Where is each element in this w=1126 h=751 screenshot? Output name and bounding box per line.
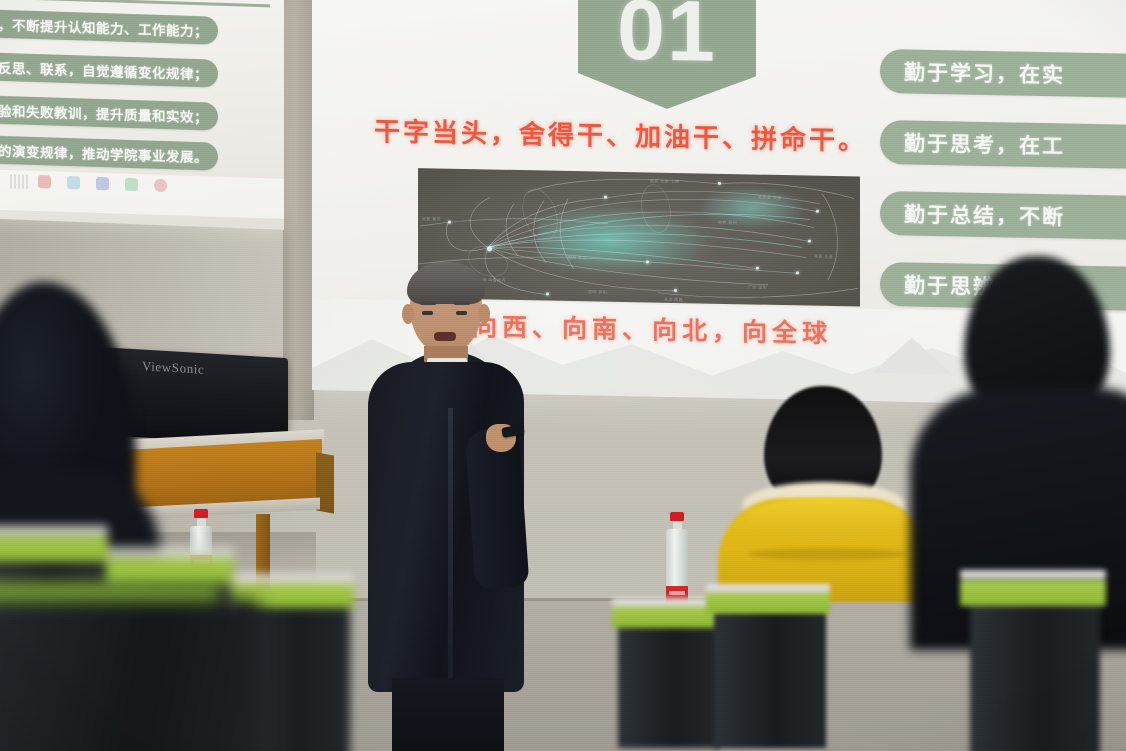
slide-divider-rule: [30, 0, 270, 7]
seat-desk-edge: [706, 584, 830, 593]
left-slide-bullet-3: 成功经验和失败教训，提升质量和实效；: [0, 94, 218, 131]
left-slide-bullet-4: 人事物的演变规律，推动学院事业发展。: [0, 134, 218, 171]
left-slide-footer-bars: [10, 174, 30, 189]
speaker-hair: [407, 262, 485, 304]
left-slide-bullet-2: 不断反思、联系，自觉遵循变化规律；: [0, 51, 218, 88]
speaker-brow-left: [420, 302, 436, 305]
bottle-cap: [194, 509, 208, 518]
seat-desk: [706, 592, 830, 614]
seat-foreground-back: [0, 600, 260, 751]
speaker-ear-right: [478, 304, 490, 324]
speaker-eye-left: [422, 311, 433, 315]
left-slide-bullet-4-text: 人事物的演变规律，推动学院事业发展。: [0, 138, 208, 166]
map-label-2: 郑州 武汉: [568, 255, 587, 261]
right-slide-pill-2-text: 勤于思考，在工: [904, 127, 1065, 160]
speaker-person: [362, 258, 532, 751]
speaker-eye-right: [456, 311, 467, 315]
speaker-trousers: [392, 678, 504, 751]
map-label-7: 哈尔滨 沈阳: [758, 195, 782, 201]
map-label-9: 青岛 大连: [814, 254, 833, 260]
right-slide-pill-1: 勤于学习，在实: [880, 49, 1126, 99]
audience-yellow-jacket: [722, 386, 930, 596]
pink-app-icon: [154, 179, 167, 192]
bottle-neck: [673, 521, 682, 529]
projection-screen-left: 学习，不断提升认知能力、工作能力； 不断反思、联系，自觉遵循变化规律； 成功经验…: [0, 0, 284, 230]
audience-yellow-jacket-collar: [746, 498, 906, 540]
seat-back: [618, 622, 720, 748]
right-slide-pill-3: 勤于总结，不断: [880, 191, 1126, 241]
blue-app-icon: [96, 177, 109, 190]
seat-desk: [960, 580, 1106, 606]
section-number-badge: 01: [578, 0, 756, 111]
seat-desk-edge: [960, 570, 1106, 579]
lecture-hall-photo: 学习，不断提升认知能力、工作能力； 不断反思、联系，自觉遵循变化规律； 成功经验…: [0, 0, 1126, 751]
speaker-ear-left: [402, 304, 414, 324]
speaker-mouth: [434, 332, 456, 341]
seat-row-back-2: [706, 578, 836, 751]
left-slide-bullet-3-text: 成功经验和失败教训，提升质量和实效；: [0, 98, 208, 126]
seat-desk: [0, 536, 108, 562]
bottle-cap: [670, 512, 684, 521]
seat-desk-edge: [0, 526, 108, 535]
cyan-app-icon: [67, 176, 80, 189]
left-slide-bullet-1: 学习，不断提升认知能力、工作能力；: [0, 8, 218, 45]
map-label-3: 成都 重庆: [422, 216, 441, 222]
speaker-coat-placket: [448, 408, 453, 682]
left-slide-bullet-2-text: 不断反思、联系，自觉遵循变化规律；: [0, 56, 208, 83]
map-label-8: 昆明 贵阳: [588, 289, 607, 295]
left-slide-bullet-1-text: 学习，不断提升认知能力、工作能力；: [0, 13, 208, 40]
map-label-1: 西安 北京 上海: [650, 179, 679, 186]
audience-yellow-jacket-seam: [748, 548, 906, 560]
right-slide-pill-1-text: 勤于学习，在实: [904, 56, 1065, 89]
map-label-4: 广州 深圳: [748, 284, 767, 290]
right-slide-pill-3-text: 勤于总结，不断: [904, 198, 1065, 231]
seat-row-back-3: [960, 564, 1112, 751]
seat-back: [714, 608, 826, 748]
green-app-icon: [125, 178, 138, 191]
map-label-6: 南京 杭州: [718, 220, 737, 226]
seat-desk-edge: [228, 574, 354, 583]
right-slide-pill-2: 勤于思考，在工: [880, 120, 1126, 170]
map-label-10: 长沙 南昌: [664, 297, 683, 303]
slide-headline-red: 干字当头，舍得干、加油干、拼命干。: [374, 111, 867, 157]
red-app-icon: [38, 175, 51, 188]
speaker-brow-right: [454, 302, 470, 305]
seat-back: [970, 602, 1100, 751]
section-number-text: 01: [617, 0, 717, 74]
bottle-neck: [197, 518, 206, 526]
